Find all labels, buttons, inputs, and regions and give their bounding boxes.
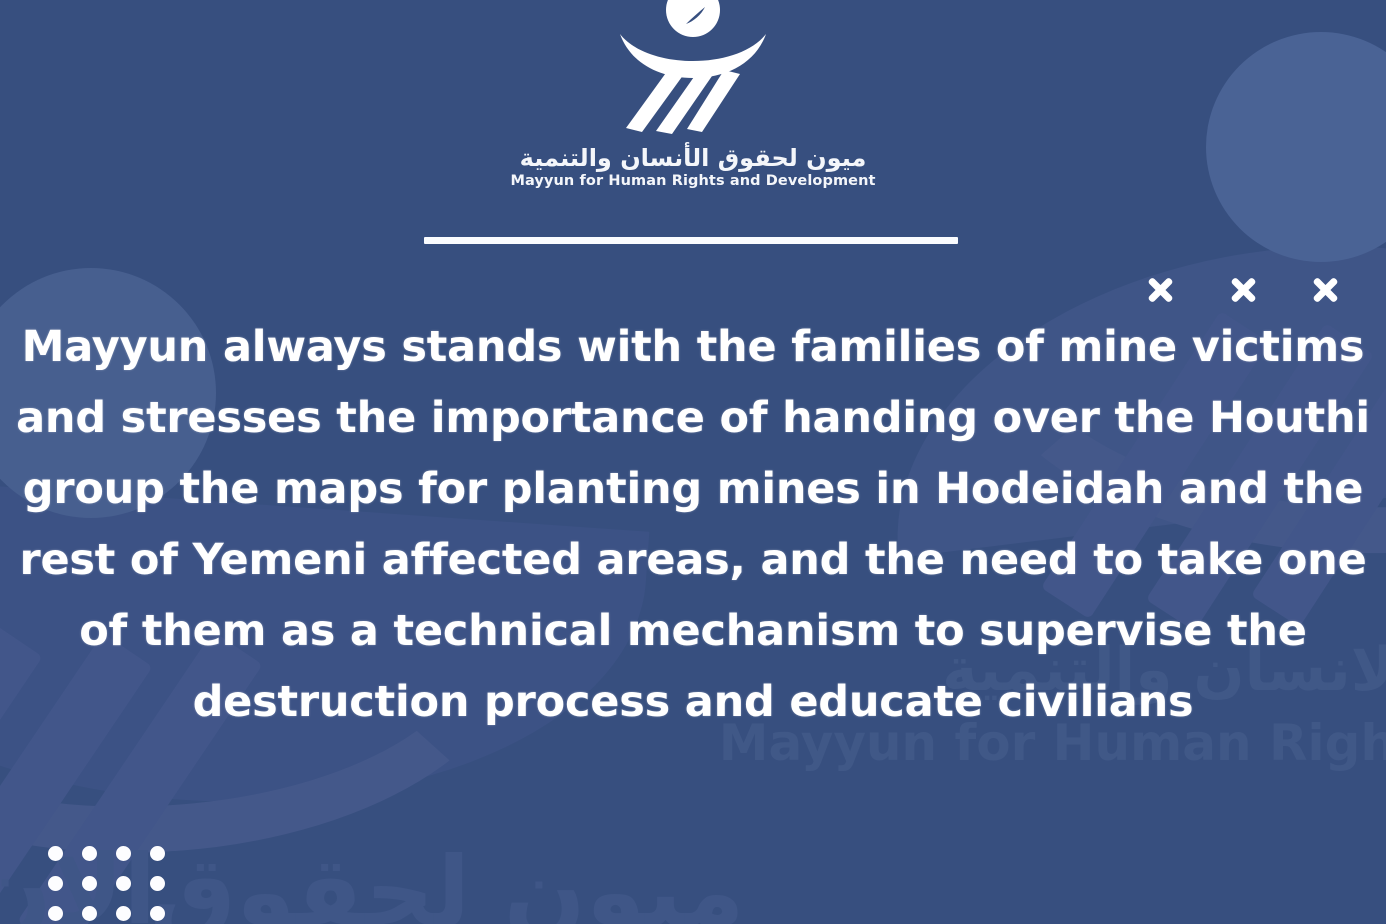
close-icon (1308, 273, 1342, 307)
poster-canvas: الانسان والتنمية Mayyun for Human Righ م… (0, 0, 1386, 924)
organization-name-arabic: ميون لحقوق الأنسان والتنمية (433, 145, 953, 171)
dot-grid-dot (150, 846, 165, 861)
mayyun-person-logo-icon (608, 0, 778, 138)
close-icon (1226, 273, 1260, 307)
dot-grid-dot (116, 906, 131, 921)
dot-grid-dot (150, 876, 165, 891)
close-icon (1143, 273, 1177, 307)
organization-logo: ميون لحقوق الأنسان والتنمية Mayyun for H… (0, 0, 1386, 215)
dot-grid-dot (48, 846, 63, 861)
dot-grid-dot (48, 906, 63, 921)
dot-grid-dot (116, 876, 131, 891)
dot-grid-dot (82, 876, 97, 891)
statement-text: Mayyun always stands with the families o… (8, 312, 1378, 738)
dot-grid-dot (116, 846, 131, 861)
dot-grid-dot (82, 846, 97, 861)
dot-grid-decoration (48, 846, 188, 924)
dot-grid-dot (150, 906, 165, 921)
dot-grid-dot (48, 876, 63, 891)
header-divider (424, 237, 958, 244)
watermark-text-arabic-bottom: ميون لحقوق (150, 844, 745, 924)
x-mark-group (1140, 273, 1350, 313)
organization-name-english: Mayyun for Human Rights and Development (433, 172, 953, 191)
organization-logo-wordmark: ميون لحقوق الأنسان والتنمية Mayyun for H… (433, 145, 953, 191)
dot-grid-dot (82, 906, 97, 921)
